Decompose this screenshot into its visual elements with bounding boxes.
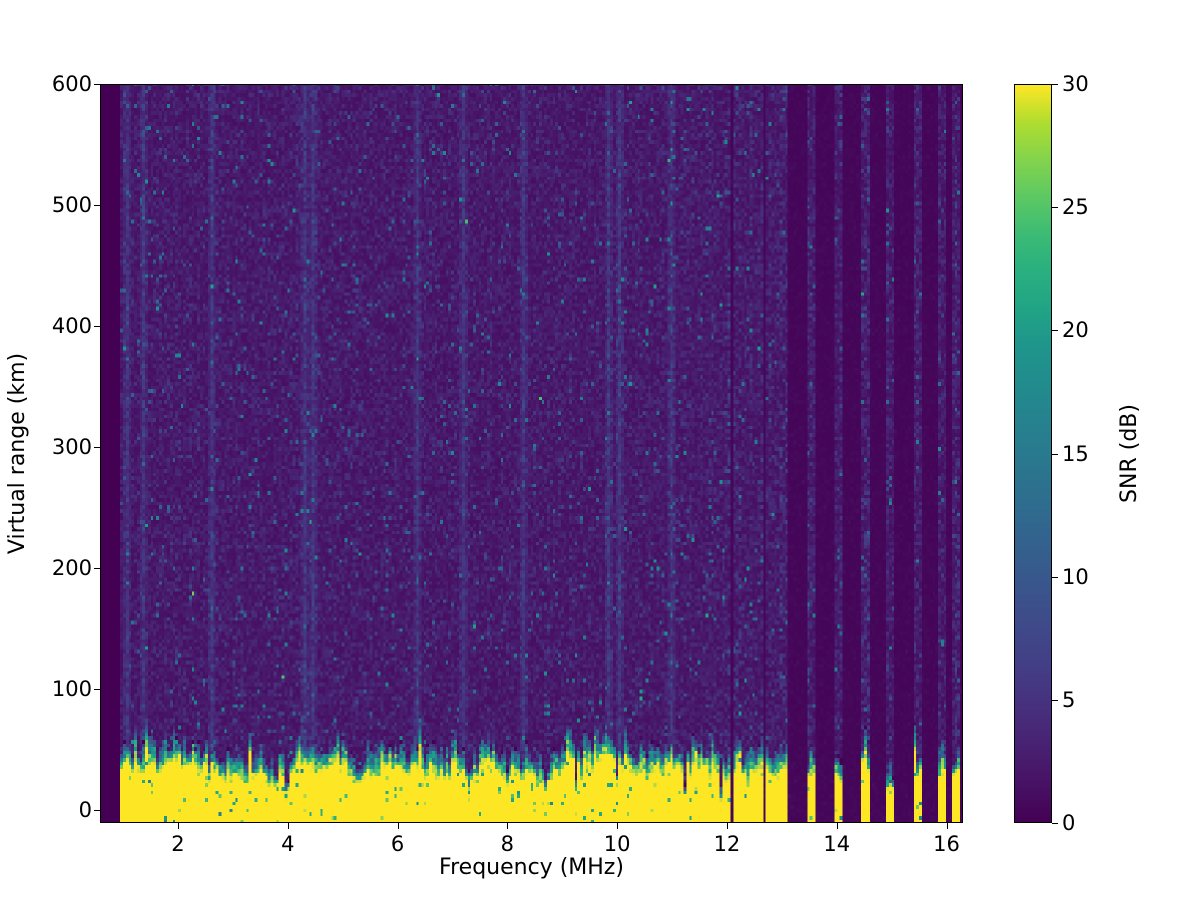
x-tick-label: 10 [604,832,631,856]
colorbar-tick-mark [1052,207,1058,208]
x-tick-label: 8 [501,832,514,856]
x-tick-label: 4 [281,832,294,856]
x-tick-label: 14 [823,832,850,856]
x-tick-label: 6 [391,832,404,856]
y-axis-label-text: Virtual range (km) [6,353,31,554]
y-tick-label: 400 [52,314,92,338]
colorbar-tick-mark [1052,700,1058,701]
colorbar-tick-label: 30 [1062,72,1089,96]
colorbar-tick-mark [1052,84,1058,85]
x-tick-label: 12 [714,832,741,856]
colorbar-label-text: SNR (dB) [1117,404,1142,503]
ionogram-axes[interactable] [100,84,963,823]
x-tick-label: 16 [933,832,960,856]
colorbar-label: SNR (dB) [1114,84,1144,823]
y-axis-ticks [100,84,101,823]
y-tick-mark [94,447,100,448]
y-tick-mark [94,84,100,85]
colorbar-tick-label: 25 [1062,195,1089,219]
ionogram-figure: IRF Kiruna Ionosonde KI167 2025-09-17 05… [0,0,1200,900]
x-tick-label: 2 [171,832,184,856]
y-tick-mark [94,810,100,811]
y-tick-mark [94,205,100,206]
y-tick-mark [94,568,100,569]
colorbar-tick-mark [1052,577,1058,578]
colorbar-tick-label: 15 [1062,442,1089,466]
y-tick-label: 500 [52,193,92,217]
y-tick-mark [94,689,100,690]
colorbar-gradient [1014,84,1052,823]
y-tick-label: 600 [52,72,92,96]
colorbar-tick-mark [1052,330,1058,331]
x-axis-label: Frequency (MHz) [100,855,963,880]
y-tick-label: 300 [52,435,92,459]
colorbar-tick-mark [1052,454,1058,455]
y-tick-label: 0 [79,798,92,822]
colorbar-tick-label: 5 [1062,688,1075,712]
colorbar-ticks: 051015202530 [1052,84,1053,823]
y-tick-mark [94,326,100,327]
y-tick-label: 100 [52,677,92,701]
y-tick-label: 200 [52,556,92,580]
y-axis-label: Virtual range (km) [0,84,36,823]
colorbar-tick-label: 20 [1062,318,1089,342]
ionogram-heatmap [101,85,962,822]
colorbar-tick-label: 0 [1062,811,1075,835]
colorbar-tick-label: 10 [1062,565,1089,589]
colorbar-tick-mark [1052,823,1058,824]
